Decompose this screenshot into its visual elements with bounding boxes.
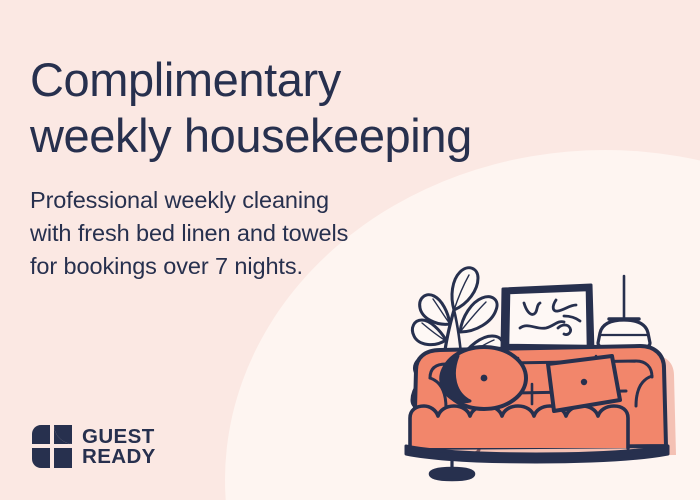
description-text: Professional weekly cleaning with fresh … [30, 184, 450, 283]
logo-line-ready: READY [82, 447, 156, 467]
page-title: Complimentary weekly housekeeping [30, 52, 650, 164]
guestready-square-mark-icon [31, 424, 73, 469]
logo-line-guest: GUEST [82, 427, 156, 447]
guestready-logo: GUEST READY [31, 424, 156, 469]
guestready-wordmark: GUEST READY [82, 427, 156, 467]
promo-banner: Complimentary weekly housekeeping Profes… [0, 0, 700, 500]
